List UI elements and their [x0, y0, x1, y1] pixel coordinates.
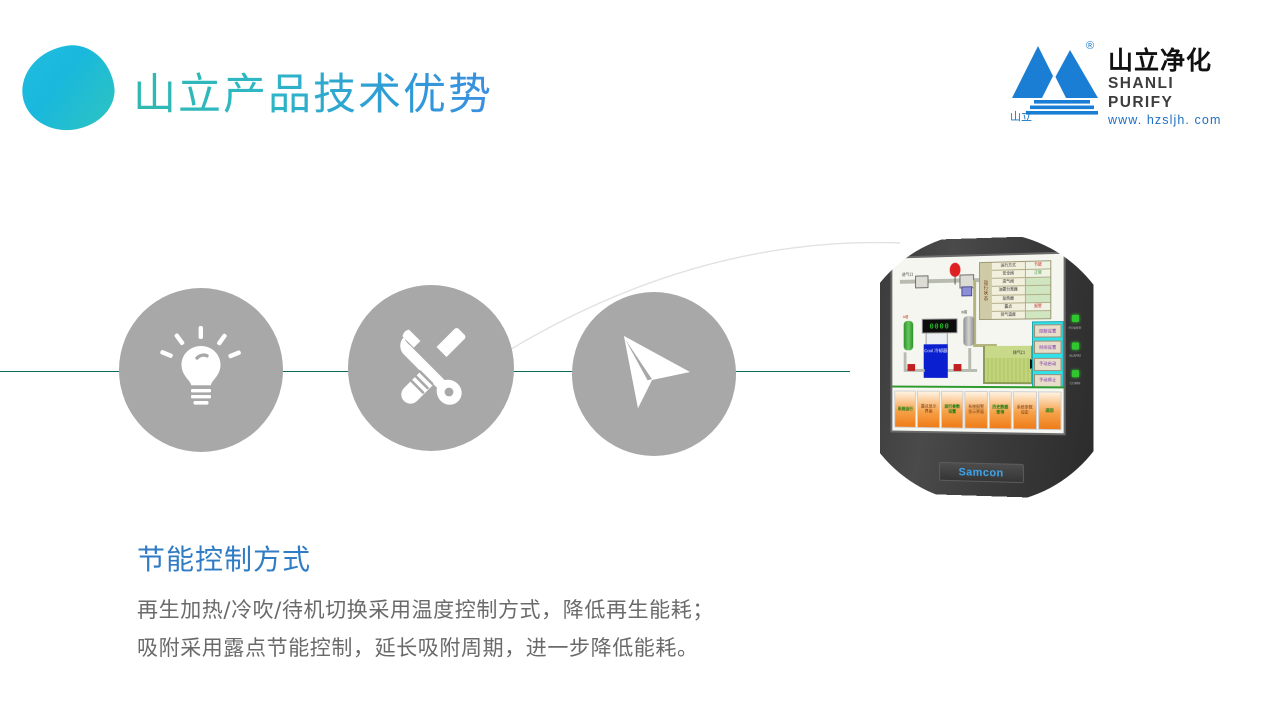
status-value: 节能 — [1026, 261, 1051, 269]
power-led-icon — [1071, 315, 1078, 322]
pressure-indicator-stem — [955, 276, 956, 285]
lightbulb-icon — [153, 320, 249, 421]
status-key: 油雾分离器 — [992, 287, 1026, 295]
page-title: 山立产品技术优势 — [133, 60, 493, 122]
hmi-foot-button[interactable]: 露点显示界面 — [917, 391, 939, 429]
hmi-foot-button[interactable]: 系统参数设定 — [1013, 391, 1037, 430]
status-value — [1026, 294, 1051, 302]
logo-name-en: SHANLI PURIFY — [1108, 75, 1223, 112]
tower-b-label: B塔 — [961, 310, 967, 315]
registered-trademark-icon: ® — [1086, 40, 1094, 52]
status-key: 露点 — [992, 303, 1026, 311]
outlet-label: 排气口 — [1013, 350, 1025, 356]
feature-circle-cursor[interactable] — [572, 292, 736, 456]
hmi-side-button[interactable]: 时间设置 — [1034, 341, 1062, 354]
bottom-pipe-mid — [948, 369, 977, 372]
inlet-valve[interactable] — [915, 275, 928, 288]
cooler-unit: Cool 冷却器 — [924, 344, 948, 378]
tower-a-vessel — [904, 321, 913, 350]
tower-b-downpipe — [968, 348, 971, 370]
body-line-1: 再生加热/冷吹/待机切换采用温度控制方式，降低再生能耗； — [137, 594, 714, 624]
feature-circle-tools[interactable] — [348, 285, 514, 451]
logo-name-cn: 山立净化 — [1108, 48, 1223, 74]
hmi-brand-label: Samcon — [959, 466, 1004, 479]
tools-icon — [382, 317, 480, 420]
separator-fill — [985, 358, 1031, 382]
comm-led-label: COMM — [1067, 381, 1084, 385]
hmi-foot-button[interactable]: 返回 — [1038, 391, 1062, 430]
table-row: 排气温度 — [992, 311, 1050, 319]
status-key: 安全阀 — [992, 270, 1026, 278]
status-key: 运行方式 — [992, 262, 1026, 270]
status-value: 正常 — [1026, 270, 1051, 278]
digital-readout-value: 0000 — [930, 322, 950, 330]
hmi-process-diagram: 进气口 运行状态 运行方式节能 安全阀正常 进气阀 油雾分离器 加热器 露点报警 — [892, 254, 1063, 393]
hmi-panel-photo: 进气口 运行状态 运行方式节能 安全阀正常 进气阀 油雾分离器 加热器 露点报警 — [850, 232, 1122, 504]
hmi-side-button[interactable]: 控制设置 — [1034, 324, 1062, 337]
led-indicator-group: POWER ALARM COMM — [1067, 315, 1084, 398]
status-value — [1026, 286, 1051, 294]
tower-a-label: A塔 — [903, 315, 909, 320]
status-table-title: 运行状态 — [980, 263, 992, 319]
status-value: 报警 — [1026, 303, 1051, 311]
hmi-panel-body: 进气口 运行状态 运行方式节能 安全阀正常 进气阀 油雾分离器 加热器 露点报警 — [880, 234, 1093, 499]
status-table: 运行状态 运行方式节能 安全阀正常 进气阀 油雾分离器 加热器 露点报警 排气温… — [979, 260, 1051, 320]
hmi-footer-toolbar: 系统运行 露点显示界面 运行参数设置 系统报警显示界面 历史数据查询 系统参数设… — [892, 386, 1063, 434]
status-key: 加热器 — [992, 295, 1026, 303]
alarm-led-icon — [1071, 342, 1078, 349]
alarm-led-label: ALARM — [1067, 354, 1084, 358]
comm-led-icon — [1071, 370, 1078, 377]
feature-circle-idea[interactable] — [119, 288, 283, 452]
subheading: 节能控制方式 — [137, 538, 311, 578]
cooler-label: Cool 冷却器 — [924, 348, 948, 355]
status-table-rows: 运行方式节能 安全阀正常 进气阀 油雾分离器 加热器 露点报警 排气温度 — [992, 261, 1050, 319]
status-value — [1026, 311, 1051, 319]
slide-root: 山立产品技术优势 ® 山立 山立净化 SHANLI PURIFY www. hz… — [0, 0, 1280, 720]
actuator-icon — [961, 286, 972, 296]
brand-logo: ® 山立 山立净化 SHANLI PURIFY www. hzsljh. com — [1008, 38, 1218, 128]
tower-b-vessel — [963, 316, 974, 346]
hmi-side-button-panel: 控制设置 时间设置 手动启动 手动停止 — [1032, 321, 1064, 390]
hmi-brand-plate: Samcon — [939, 462, 1024, 483]
status-key: 进气阀 — [992, 278, 1026, 286]
digital-readout: 0000 — [922, 318, 958, 333]
inlet-label: 进气口 — [902, 272, 913, 278]
separator-vessel — [983, 346, 1033, 384]
status-key: 排气温度 — [992, 311, 1026, 319]
logo-website-url: www. hzsljh. com — [1108, 113, 1223, 128]
logo-mark-label: 山立 — [1010, 108, 1032, 124]
hmi-foot-button[interactable]: 历史数据查询 — [989, 391, 1012, 429]
decorative-blob — [17, 40, 120, 136]
status-value — [1026, 278, 1051, 286]
valve-b-icon — [954, 364, 962, 371]
hmi-screen[interactable]: 进气口 运行状态 运行方式节能 安全阀正常 进气阀 油雾分离器 加热器 露点报警 — [890, 252, 1065, 436]
valve-a-icon — [907, 364, 915, 371]
hmi-side-button[interactable]: 手动启动 — [1034, 357, 1062, 370]
hmi-foot-button[interactable]: 系统报警显示界面 — [965, 391, 988, 429]
power-led-label: POWER — [1067, 326, 1084, 330]
hmi-foot-button[interactable]: 系统运行 — [894, 390, 916, 427]
body-line-2: 吸附采用露点节能控制，延长吸附周期，进一步降低能耗。 — [137, 632, 699, 662]
hmi-foot-button[interactable]: 运行参数设置 — [941, 391, 964, 429]
cursor-arrow-icon — [608, 326, 700, 423]
